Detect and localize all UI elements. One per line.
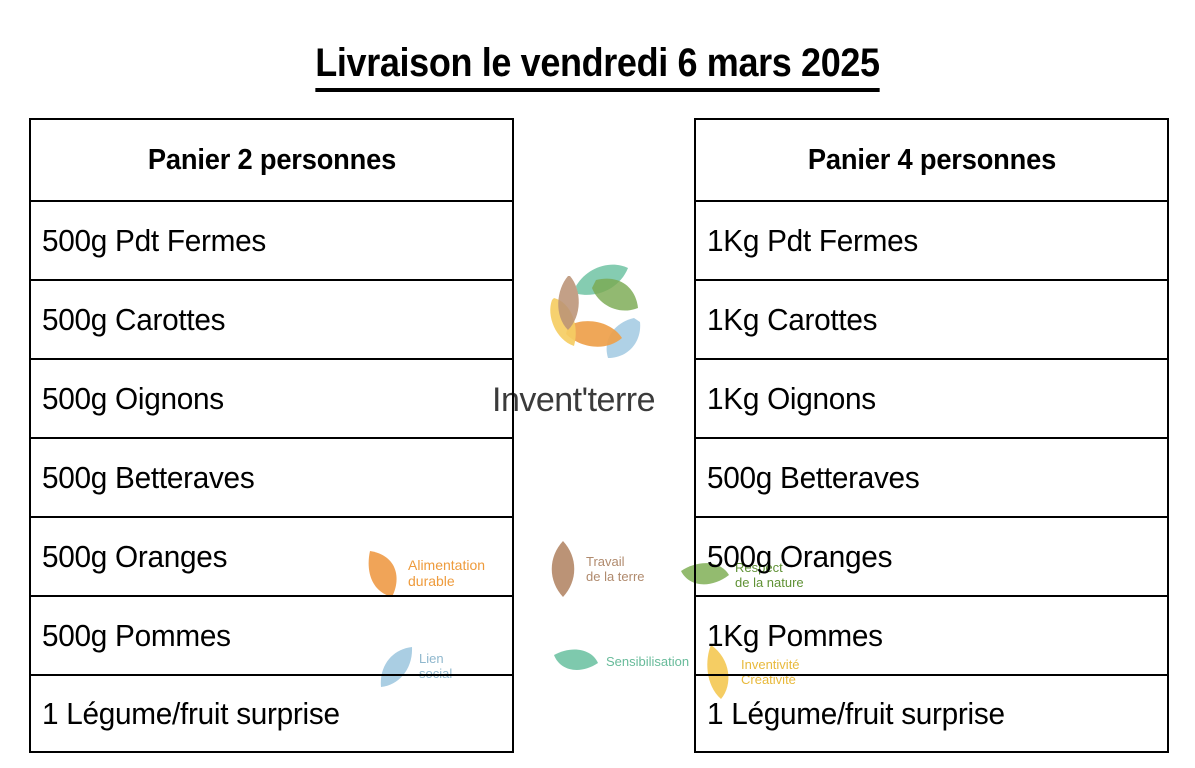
- table-row: 1 Légume/fruit surprise: [31, 676, 512, 753]
- logo-wordmark: Invent'terre: [492, 381, 655, 420]
- value-badge-label: Sensibilisation: [606, 654, 689, 669]
- table-row: 500g Oignons: [31, 360, 512, 439]
- basket-item-label: 1 Légume/fruit surprise: [707, 696, 1005, 732]
- table-row: 500g Betteraves: [31, 439, 512, 518]
- basket-header-label: Panier 2 personnes: [147, 144, 395, 177]
- table-row: 1Kg Pommes: [696, 597, 1167, 676]
- basket-header-row: Panier 4 personnes: [696, 120, 1167, 202]
- inventterre-logo: [536, 254, 656, 369]
- petal-green-icon: [592, 279, 638, 311]
- basket-item-label: 500g Oranges: [707, 539, 892, 575]
- basket-item-label: 1 Légume/fruit surprise: [42, 696, 340, 732]
- table-row: 1Kg Pdt Fermes: [696, 202, 1167, 281]
- leaf-icon: [548, 541, 578, 597]
- value-badge-line-2: de la terre: [586, 569, 645, 584]
- logo-petals-svg: [536, 254, 656, 369]
- basket-header-label: Panier 4 personnes: [807, 144, 1055, 177]
- page-title: Livraison le vendredi 6 mars 2025: [60, 41, 1136, 86]
- value-badge-label: Travail de la terre: [586, 554, 645, 584]
- table-row: 500g Oranges: [31, 518, 512, 597]
- table-row: 500g Carottes: [31, 281, 512, 360]
- table-row: 500g Betteraves: [696, 439, 1167, 518]
- basket-item-label: 500g Betteraves: [707, 460, 919, 496]
- basket-item-label: 500g Betteraves: [42, 460, 254, 496]
- basket-header-row: Panier 2 personnes: [31, 120, 512, 202]
- value-badge-line-1: Travail: [586, 554, 645, 569]
- page-title-text: Livraison le vendredi 6 mars 2025: [315, 41, 879, 92]
- basket-item-label: 1Kg Pdt Fermes: [707, 223, 918, 259]
- basket-item-label: 500g Oranges: [42, 539, 227, 575]
- basket-item-label: 500g Pommes: [42, 618, 231, 654]
- basket-item-label: 500g Carottes: [42, 302, 225, 338]
- basket-item-label: 1Kg Carottes: [707, 302, 877, 338]
- leaf-icon: [554, 645, 598, 677]
- value-badge-travail-de-la-terre: Travail de la terre: [548, 541, 645, 597]
- table-row: 500g Oranges: [696, 518, 1167, 597]
- slide-canvas: Livraison le vendredi 6 mars 2025 Invent…: [0, 0, 1195, 768]
- table-row: 1Kg Carottes: [696, 281, 1167, 360]
- basket-table-4-personnes: Panier 4 personnes 1Kg Pdt Fermes 1Kg Ca…: [694, 118, 1169, 753]
- table-row: 1Kg Oignons: [696, 360, 1167, 439]
- value-badge-line-1: Sensibilisation: [606, 654, 689, 669]
- table-row: 500g Pommes: [31, 597, 512, 676]
- value-badge-sensibilisation: Sensibilisation: [554, 645, 689, 677]
- basket-item-label: 1Kg Oignons: [707, 381, 876, 417]
- basket-item-label: 1Kg Pommes: [707, 618, 883, 654]
- basket-item-label: 500g Pdt Fermes: [42, 223, 266, 259]
- basket-table-2-personnes: Panier 2 personnes 500g Pdt Fermes 500g …: [29, 118, 514, 753]
- table-row: 1 Légume/fruit surprise: [696, 676, 1167, 753]
- basket-item-label: 500g Oignons: [42, 381, 224, 417]
- table-row: 500g Pdt Fermes: [31, 202, 512, 281]
